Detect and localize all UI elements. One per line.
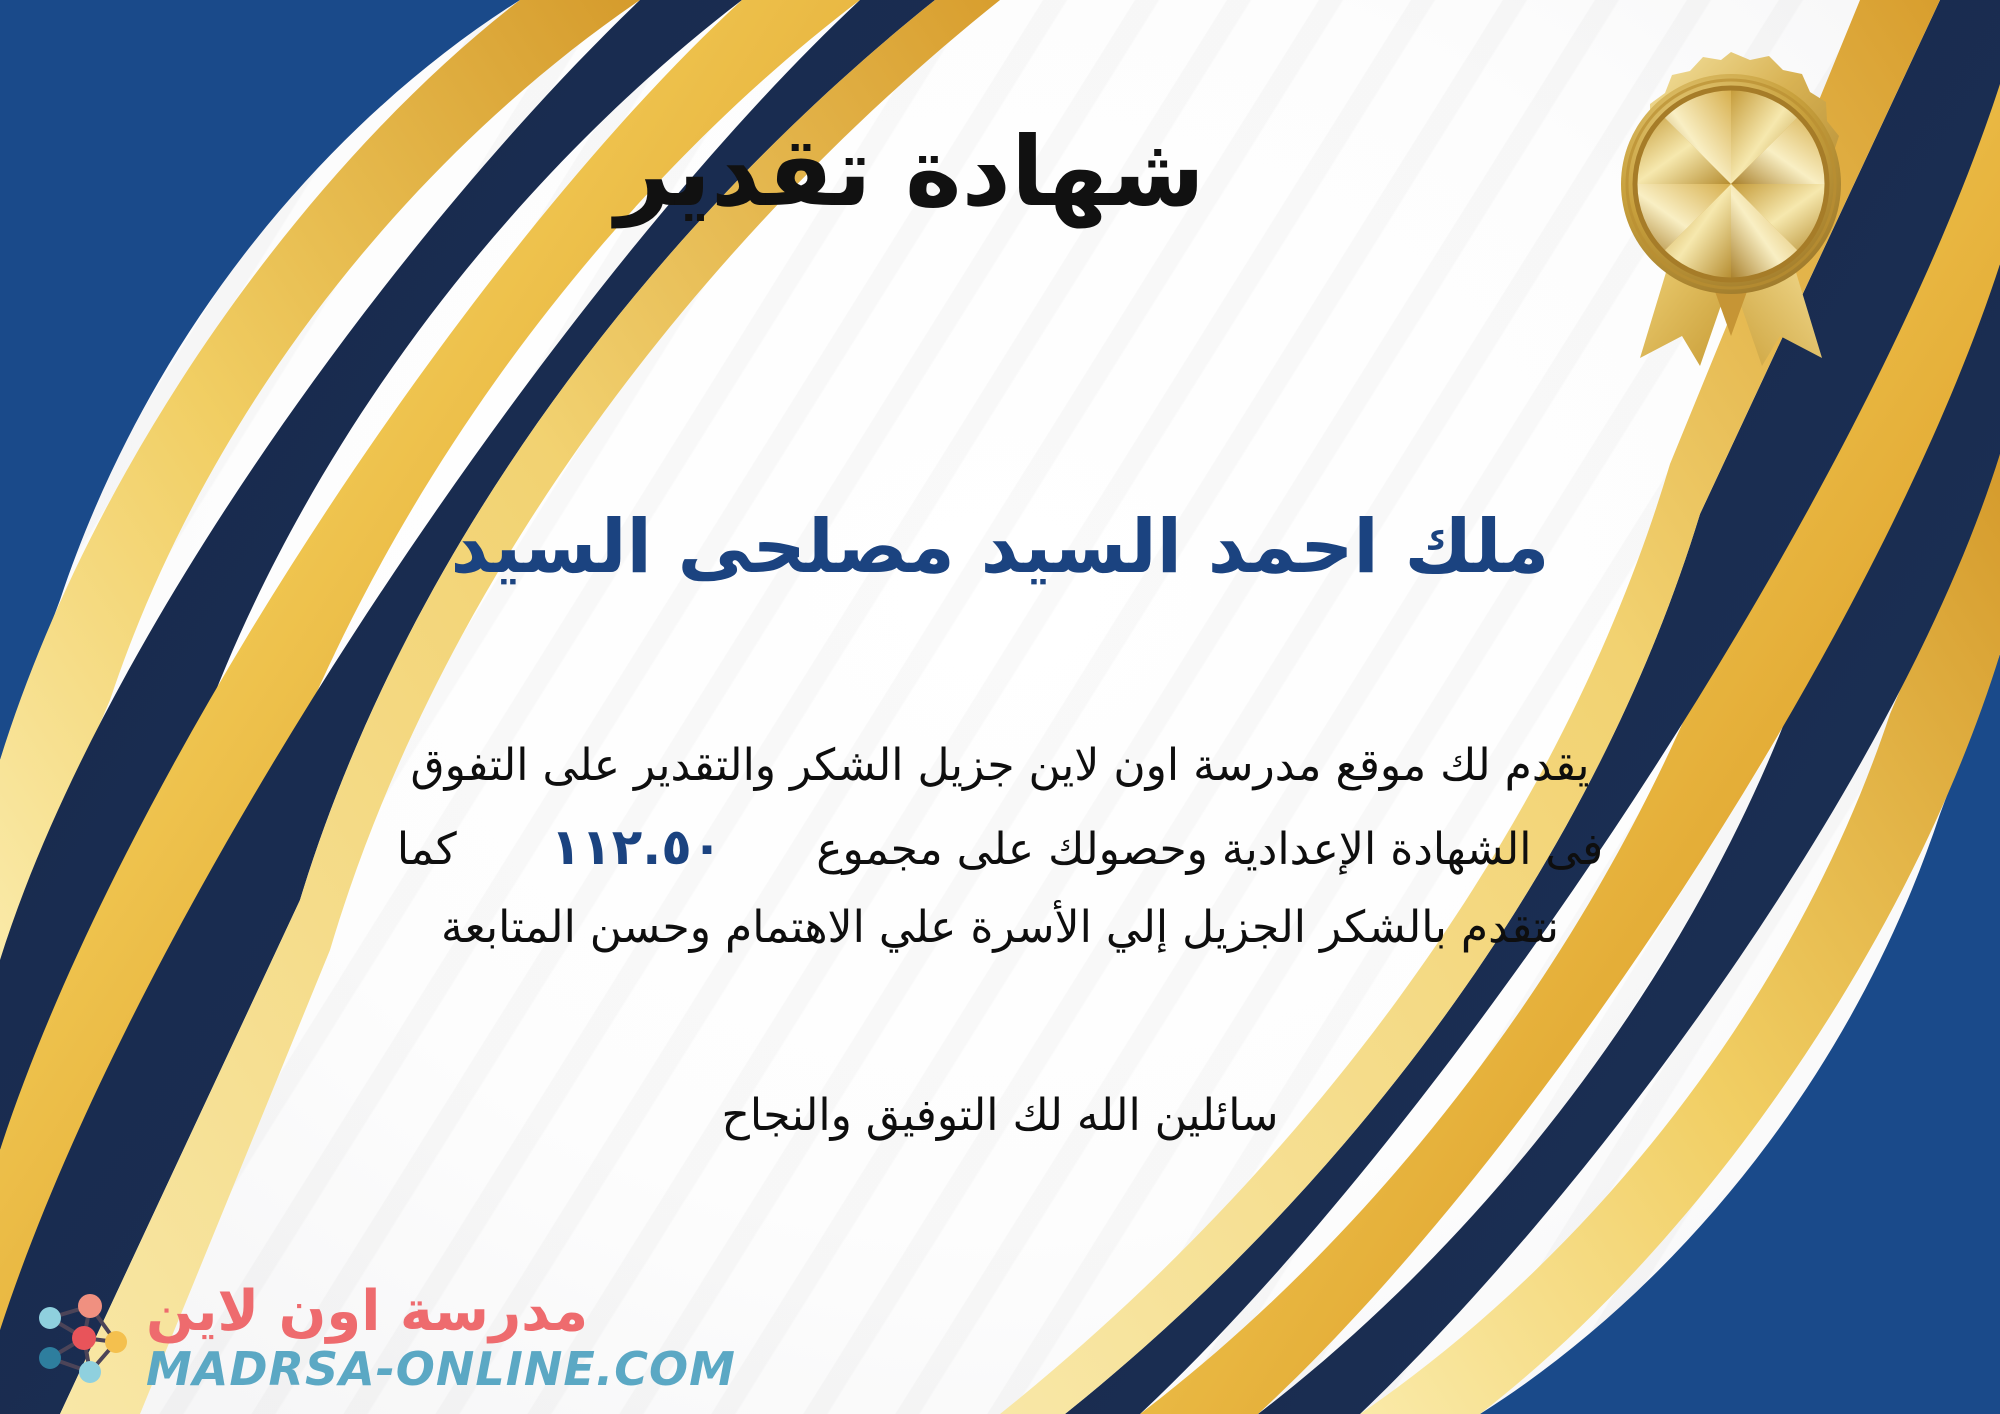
total-score-value: ١١٢.٥٠ [525,818,749,876]
body-line-2-suffix: كما [397,824,457,875]
body-line-3: نتقدم بالشكر الجزيل إلي الأسرة علي الاهت… [60,890,1940,966]
brand-text-group: مدرسة اون لاين MADRSA-ONLINE.COM [146,1284,736,1392]
certificate-content: شهادة تقدير ملك احمد السيد مصلحى السيد ي… [0,0,2000,1414]
certificate-canvas: شهادة تقدير ملك احمد السيد مصلحى السيد ي… [0,0,2000,1414]
body-line-1: يقدم لك موقع مدرسة اون لاين جزيل الشكر و… [60,728,1940,804]
closing-wish-line: سائلين الله لك التوفيق والنجاح [60,1090,1940,1141]
body-line-2: فى الشهادة الإعدادية وحصولك على مجموع ١١… [60,804,1940,890]
network-nodes-icon [28,1286,132,1390]
brand-website[interactable]: MADRSA-ONLINE.COM [146,1346,736,1392]
brand-arabic-name: مدرسة اون لاين [146,1284,588,1340]
certificate-body: يقدم لك موقع مدرسة اون لاين جزيل الشكر و… [60,728,1940,965]
brand-logo[interactable]: مدرسة اون لاين MADRSA-ONLINE.COM [28,1284,736,1392]
body-line-2-prefix: فى الشهادة الإعدادية وحصولك على مجموع [816,824,1603,875]
recipient-name: ملك احمد السيد مصلحى السيد [0,505,2000,590]
certificate-title: شهادة تقدير [0,120,1820,226]
